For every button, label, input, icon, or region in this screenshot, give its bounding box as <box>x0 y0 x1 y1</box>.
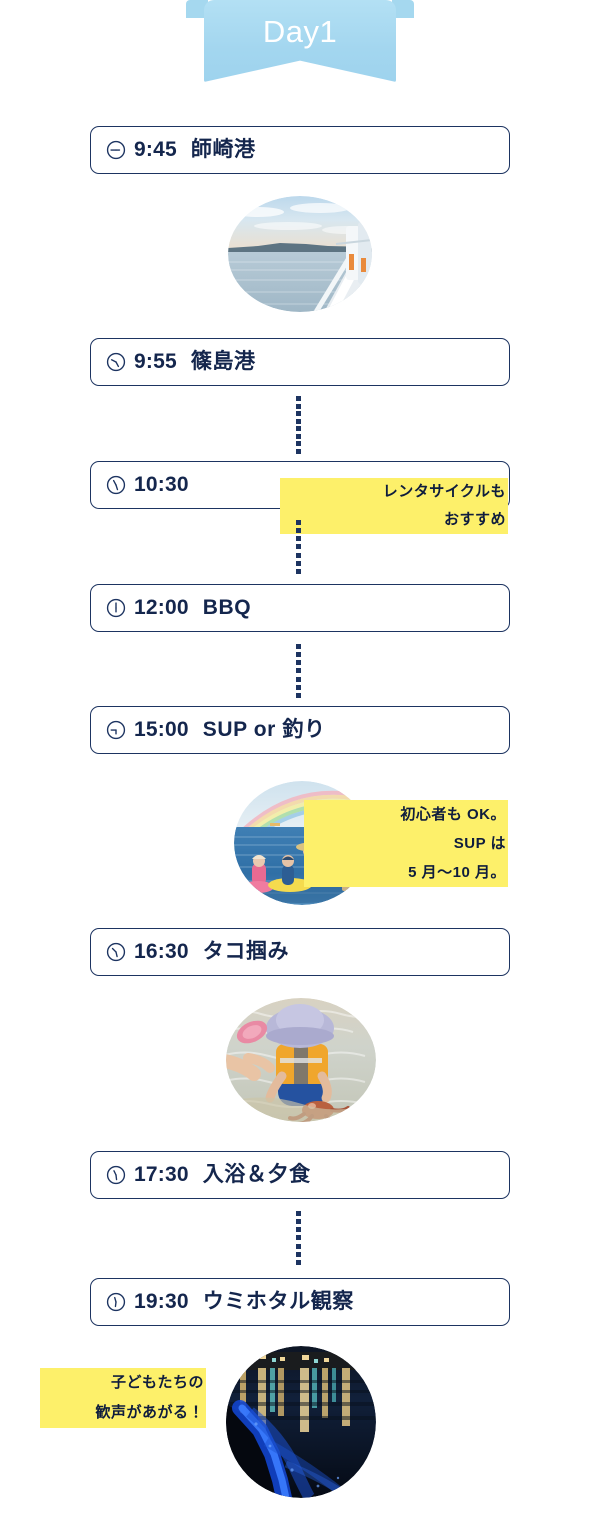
timeline-card-1200[interactable]: 12:00 BBQ <box>90 584 510 632</box>
photo-night <box>226 1346 376 1498</box>
clock-icon-0945 <box>105 139 127 161</box>
note-line: 初心者も OK。 <box>304 800 508 829</box>
timeline-card-1500[interactable]: 15:00 SUP or 釣り <box>90 706 510 754</box>
timeline-time: 15:00 <box>134 719 189 741</box>
note-line: 歓声があがる！ <box>40 1398 206 1428</box>
timeline-card-1630[interactable]: 16:30 タコ掴み <box>90 928 510 976</box>
timeline-time: 10:30 <box>134 474 189 496</box>
timeline-time: 19:30 <box>134 1291 189 1313</box>
timeline-time: 12:00 <box>134 597 189 619</box>
timeline-title: 篠島港 <box>191 350 256 374</box>
clock-icon-1030 <box>105 474 127 496</box>
timeline-title: BBQ <box>203 596 251 620</box>
photo-ferry <box>228 196 372 312</box>
timeline-title: 入浴＆夕食 <box>203 1163 311 1187</box>
clock-icon-1630 <box>105 941 127 963</box>
timeline-title: 師崎港 <box>191 138 256 162</box>
note-rentacycle: レンタサイクルも おすすめ <box>280 478 508 534</box>
clock-icon-1200 <box>105 597 127 619</box>
photo-ferry-image <box>228 196 372 312</box>
clock-icon-0955 <box>105 351 127 373</box>
note-line: レンタサイクルも <box>280 478 508 506</box>
note-line: SUP は <box>304 829 508 858</box>
timeline-time: 16:30 <box>134 941 189 963</box>
note-line: おすすめ <box>280 506 508 534</box>
day1-timeline-page: Day1 9:45 師崎港 <box>0 0 600 1526</box>
timeline-title: SUP or 釣り <box>203 718 326 742</box>
timeline-time: 9:45 <box>134 139 177 161</box>
note-sup: 初心者も OK。 SUP は 5 月〜10 月。 <box>304 800 508 887</box>
clock-icon-1500 <box>105 719 127 741</box>
photo-octopus <box>226 998 376 1122</box>
connector-dots-1 <box>294 396 302 454</box>
clock-icon-1930 <box>105 1291 127 1313</box>
timeline-card-0945[interactable]: 9:45 師崎港 <box>90 126 510 174</box>
timeline-time: 17:30 <box>134 1164 189 1186</box>
timeline-time: 9:55 <box>134 351 177 373</box>
connector-dots-4 <box>294 1211 302 1265</box>
timeline-card-1930[interactable]: 19:30 ウミホタル観察 <box>90 1278 510 1326</box>
timeline-card-1730[interactable]: 17:30 入浴＆夕食 <box>90 1151 510 1199</box>
connector-dots-3 <box>294 644 302 698</box>
clock-icon-1730 <box>105 1164 127 1186</box>
day-banner: Day1 <box>0 0 600 96</box>
note-line: 5 月〜10 月。 <box>304 858 508 887</box>
note-line: 子どもたちの <box>40 1368 206 1398</box>
photo-night-image <box>226 1346 376 1498</box>
note-kids: 子どもたちの 歓声があがる！ <box>40 1368 206 1428</box>
photo-octopus-image <box>226 998 376 1122</box>
banner-label: Day1 <box>204 14 396 50</box>
timeline-title: タコ掴み <box>203 940 289 964</box>
banner-ribbon: Day1 <box>204 0 396 86</box>
connector-dots-2 <box>294 520 302 574</box>
timeline-title: ウミホタル観察 <box>203 1290 354 1314</box>
timeline-card-0955[interactable]: 9:55 篠島港 <box>90 338 510 386</box>
